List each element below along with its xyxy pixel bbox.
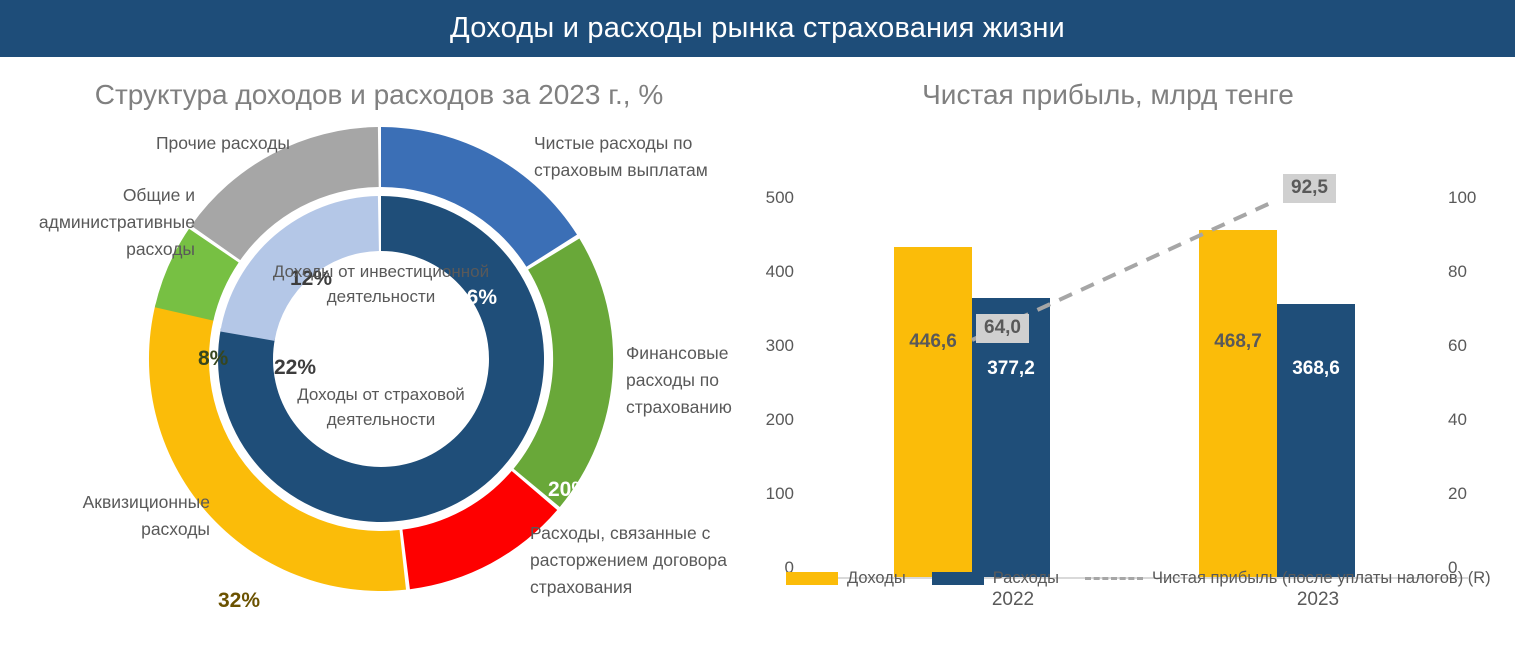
donut-callout-admin-expenses: Общие и административные расходы: [10, 182, 195, 263]
y-axis-left-tick-200: 200: [748, 410, 794, 430]
bar-2023-expense[interactable]: [1277, 304, 1355, 577]
donut-value-admin-expenses: 8%: [198, 347, 228, 371]
donut-chart-panel: Структура доходов и расходов за 2023 г.,…: [0, 57, 758, 611]
bar-chart-title: Чистая прибыль, млрд тенге: [758, 79, 1458, 111]
donut-value-financial-expenses: 20%: [548, 478, 590, 502]
header-band: Доходы и расходы рынка страхования жизни: [0, 0, 1515, 57]
donut-center-label-investment: Доходы от инвестиционной деятельности: [271, 259, 491, 309]
legend-item-expense[interactable]: Расходы: [932, 569, 1059, 588]
legend-label-expense: Расходы: [993, 569, 1059, 588]
bar-value-2023-income: 468,7: [1199, 331, 1277, 353]
donut-value-investment-income: 22%: [274, 356, 316, 380]
donut-callout-acquisition-expenses: Аквизиционные расходы: [10, 489, 210, 543]
page-title: Доходы и расходы рынка страхования жизни: [450, 12, 1065, 45]
donut-callout-net-claims: Чистые расходы по страховым выплатам: [534, 130, 749, 184]
donut-callout-financial-expenses: Финансовые расходы по страхованию: [626, 340, 756, 421]
bar-2023-income[interactable]: [1199, 230, 1277, 577]
y-axis-left-tick-400: 400: [748, 262, 794, 282]
x-axis-label-2022: 2022: [953, 589, 1073, 611]
net-profit-label-2022: 64,0: [976, 314, 1029, 343]
bar-plot-area: 446,6 377,2 468,7 368,6 64,0 92,5: [816, 132, 1456, 577]
legend-item-net-profit[interactable]: Чистая прибыль (после уплаты налогов) (R…: [1085, 569, 1491, 588]
bar-value-2022-income: 446,6: [894, 331, 972, 353]
bar-value-2022-expense: 377,2: [972, 358, 1050, 380]
donut-value-insurance-income: 78%: [358, 603, 404, 630]
bar-2022-income[interactable]: [894, 247, 972, 577]
legend-label-income: Доходы: [847, 569, 906, 588]
bar-value-2023-expense: 368,6: [1277, 358, 1355, 380]
legend-swatch-expense-icon: [932, 572, 984, 585]
donut-center-label-insurance: Доходы от страховой деятельности: [261, 382, 501, 432]
legend-label-net-profit: Чистая прибыль (после уплаты налогов) (R…: [1152, 569, 1491, 588]
donut-value-termination-expenses: 12%: [461, 638, 503, 662]
bar-chart-panel: Чистая прибыль, млрд тенге 500 400 300 2…: [758, 57, 1515, 611]
y-axis-left-tick-100: 100: [748, 484, 794, 504]
donut-value-acquisition-expenses: 32%: [218, 589, 260, 613]
bar-chart-legend: Доходы Расходы Чистая прибыль (после упл…: [786, 569, 1491, 588]
infographic-page: Доходы и расходы рынка страхования жизни…: [0, 0, 1515, 611]
legend-dashed-line-icon: [1085, 577, 1143, 580]
donut-chart-title: Структура доходов и расходов за 2023 г.,…: [0, 79, 758, 111]
x-axis-label-2023: 2023: [1258, 589, 1378, 611]
net-profit-label-2023: 92,5: [1283, 174, 1336, 203]
y-axis-left-tick-500: 500: [748, 188, 794, 208]
y-axis-left-tick-300: 300: [748, 336, 794, 356]
legend-item-income[interactable]: Доходы: [786, 569, 906, 588]
donut-callout-termination-expenses: Расходы, связанные с расторжением догово…: [530, 520, 758, 601]
donut-callout-other-expenses: Прочие расходы: [30, 130, 290, 157]
legend-swatch-income-icon: [786, 572, 838, 585]
